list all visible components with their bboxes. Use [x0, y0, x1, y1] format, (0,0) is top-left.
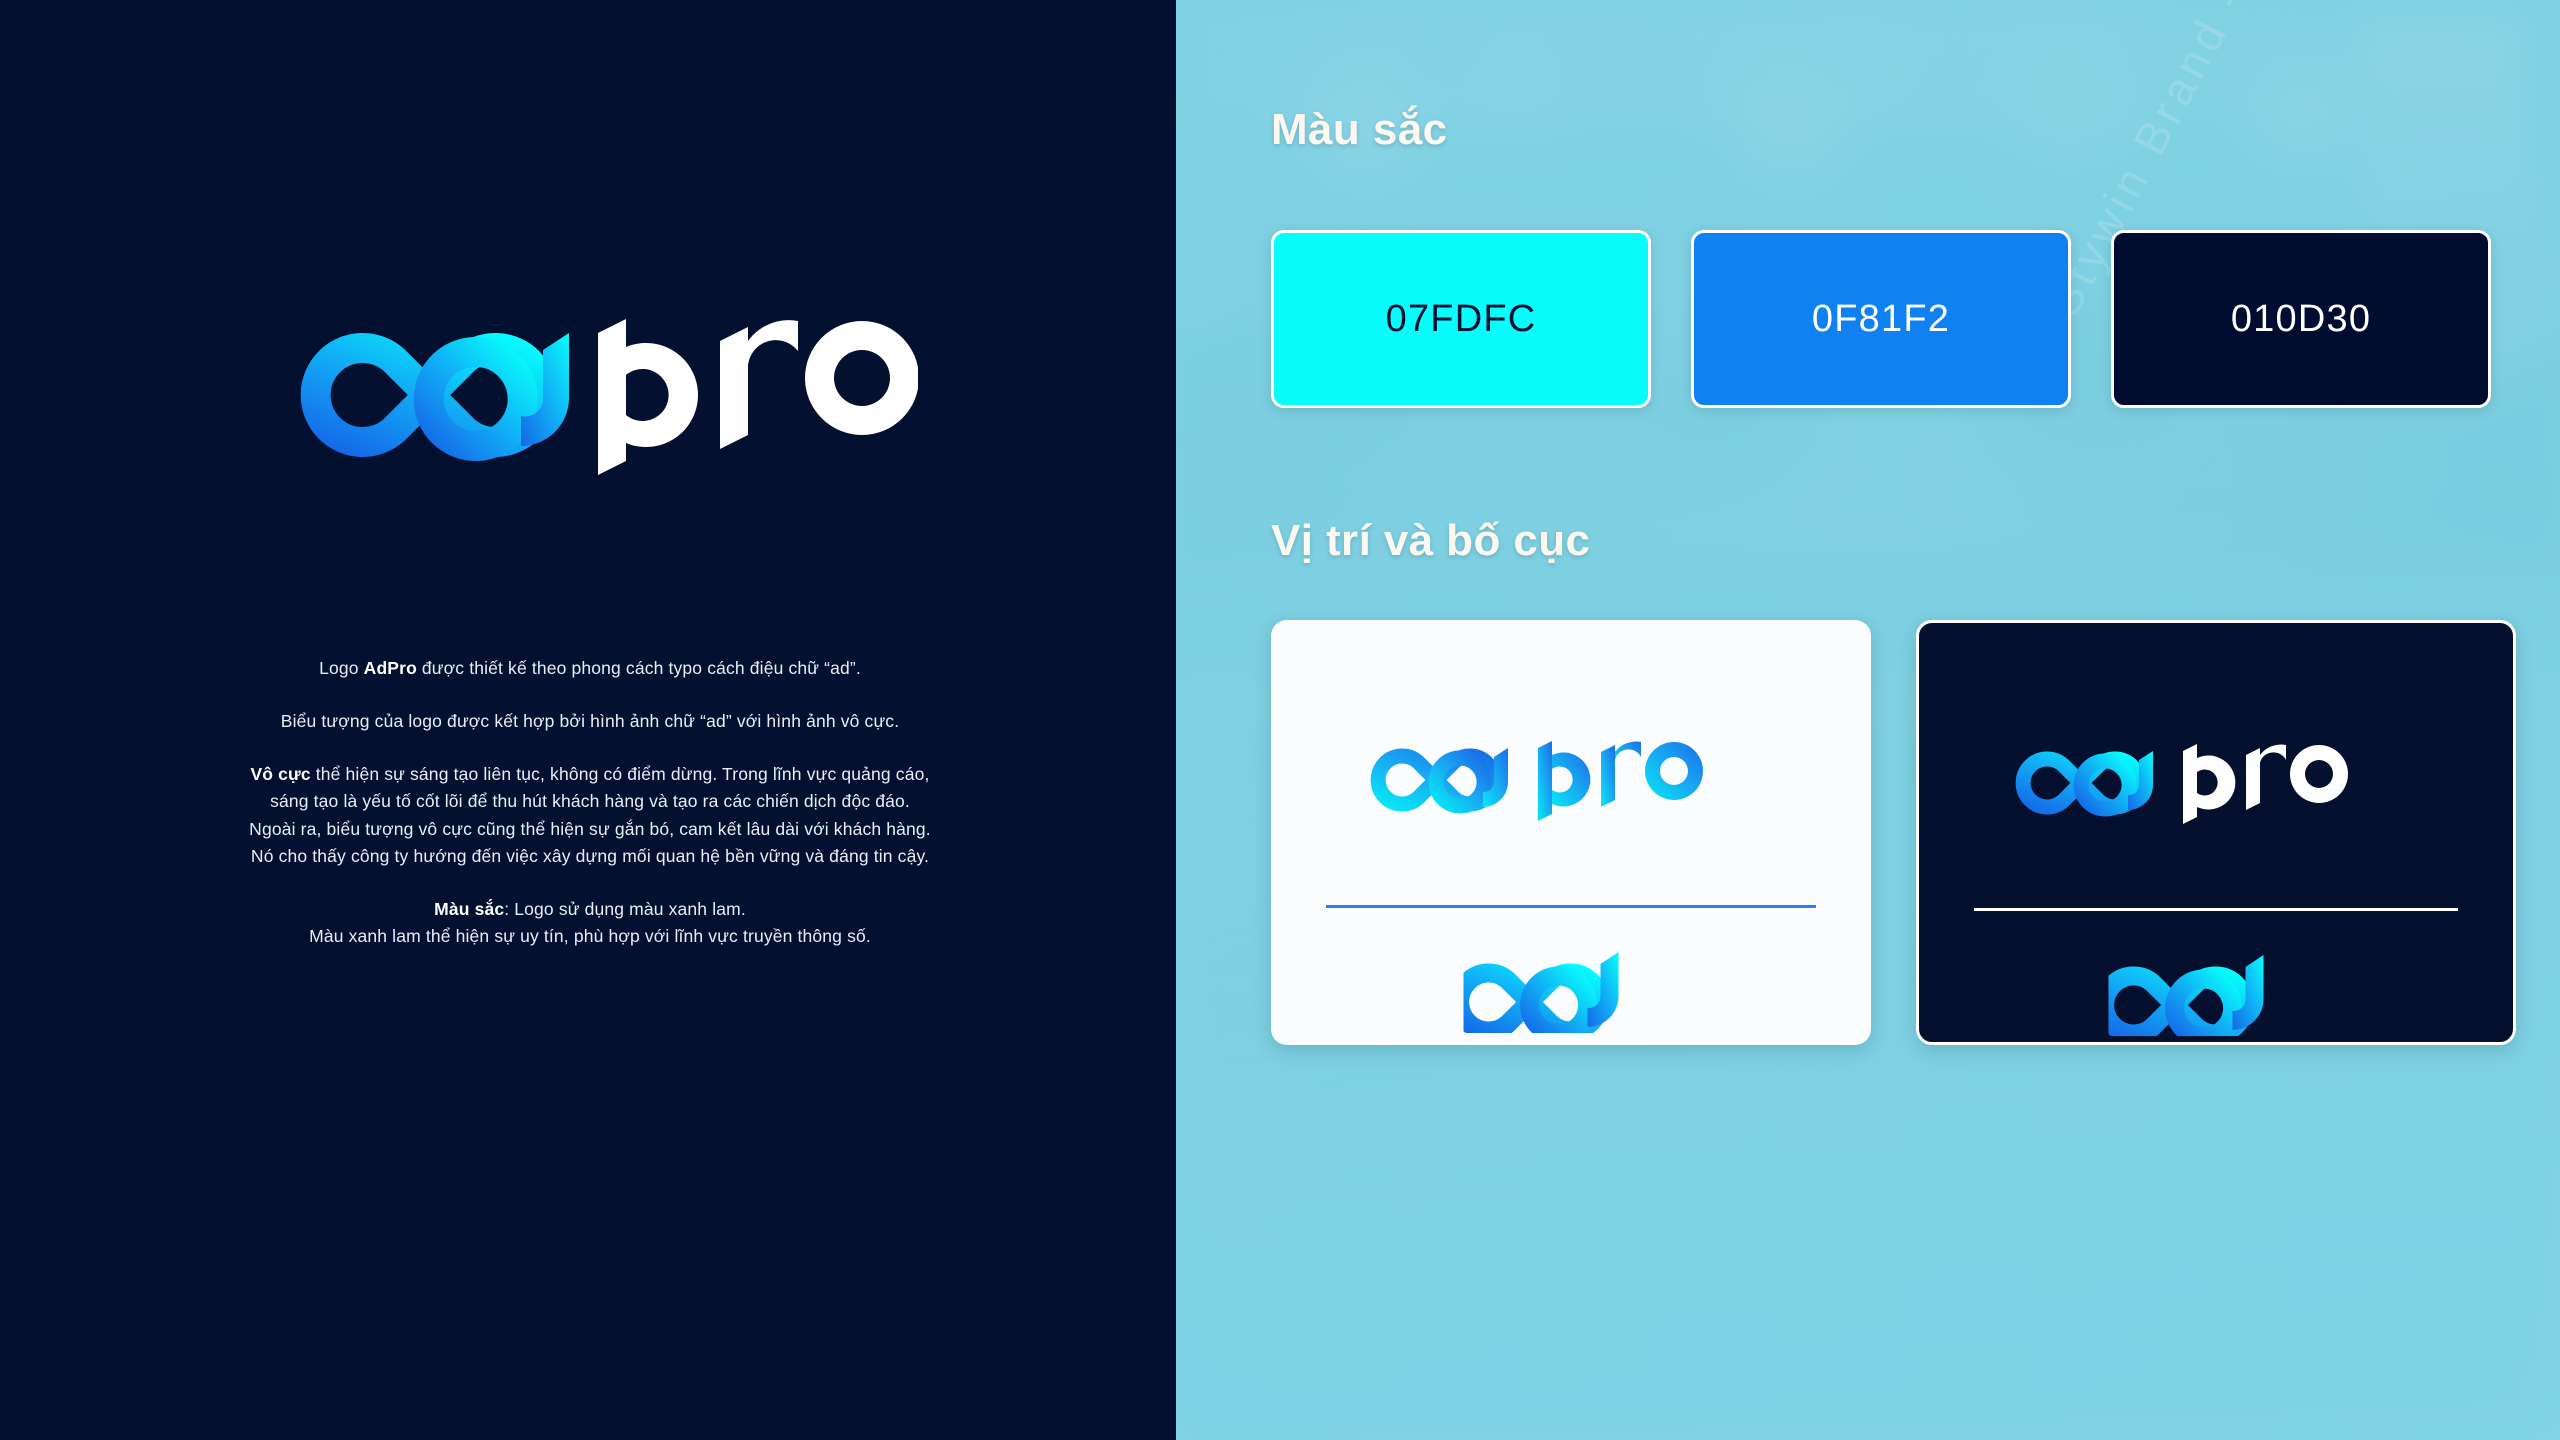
layout-card-light[interactable] [1271, 620, 1871, 1045]
description-paragraph-2: Biểu tượng của logo được kết hợp bởi hìn… [80, 708, 1100, 735]
color-swatch-blue[interactable]: 0F81F2 [1691, 230, 2071, 408]
para4-line1: : Logo sử dụng màu xanh lam. [504, 899, 746, 919]
para3-line4: Nó cho thấy công ty hướng đến việc xây d… [251, 846, 929, 866]
color-swatch-cyan[interactable]: 07FDFC [1271, 230, 1651, 408]
brand-guideline-page: Logo AdPro được thiết kế theo phong cách… [0, 0, 2560, 1440]
logo-mark-on-light [1464, 938, 1679, 1033]
para3-bold: Vô cực [250, 764, 310, 784]
logo-on-dark [2001, 711, 2431, 829]
para3-line3: Ngoài ra, biểu tượng vô cực cũng thể hiệ… [249, 819, 931, 839]
swatch-label: 010D30 [2231, 298, 2371, 341]
logo-on-light [1356, 708, 1786, 826]
para4-line2: Màu xanh lam thể hiện sự uy tín, phù hợp… [309, 926, 871, 946]
para3-line2: sáng tạo là yếu tố cốt lõi để thu hút kh… [270, 791, 910, 811]
layout-card-dark[interactable] [1916, 620, 2516, 1045]
section-title-layout: Vị trí và bố cục [1271, 516, 1590, 566]
description-paragraph-1: Logo AdPro được thiết kế theo phong cách… [80, 655, 1100, 682]
card-divider-dark [1974, 908, 2458, 911]
description-paragraph-4: Màu sắc: Logo sử dụng màu xanh lam. Màu … [80, 896, 1100, 950]
primary-logo [268, 255, 918, 485]
description-paragraph-3: Vô cực thể hiện sự sáng tạo liên tục, kh… [80, 761, 1100, 870]
logo-description: Logo AdPro được thiết kế theo phong cách… [80, 655, 1100, 950]
right-panel: Stywin Brand - the tone... Màu sắc 07FDF… [1176, 0, 2560, 1440]
logo-mark-on-dark [2109, 941, 2324, 1036]
swatch-label: 07FDFC [1386, 298, 1537, 341]
para1-post: được thiết kế theo phong cách typo cách … [417, 658, 861, 678]
para1-bold: AdPro [364, 658, 417, 678]
left-panel: Logo AdPro được thiết kế theo phong cách… [0, 0, 1176, 1440]
para4-bold: Màu sắc [434, 899, 504, 919]
para3-line1: thể hiện sự sáng tạo liên tục, không có … [311, 764, 930, 784]
color-swatch-navy[interactable]: 010D30 [2111, 230, 2491, 408]
para1-pre: Logo [319, 658, 364, 678]
swatch-label: 0F81F2 [1812, 298, 1950, 341]
section-title-colors: Màu sắc [1271, 105, 1447, 155]
card-divider-light [1326, 905, 1816, 908]
